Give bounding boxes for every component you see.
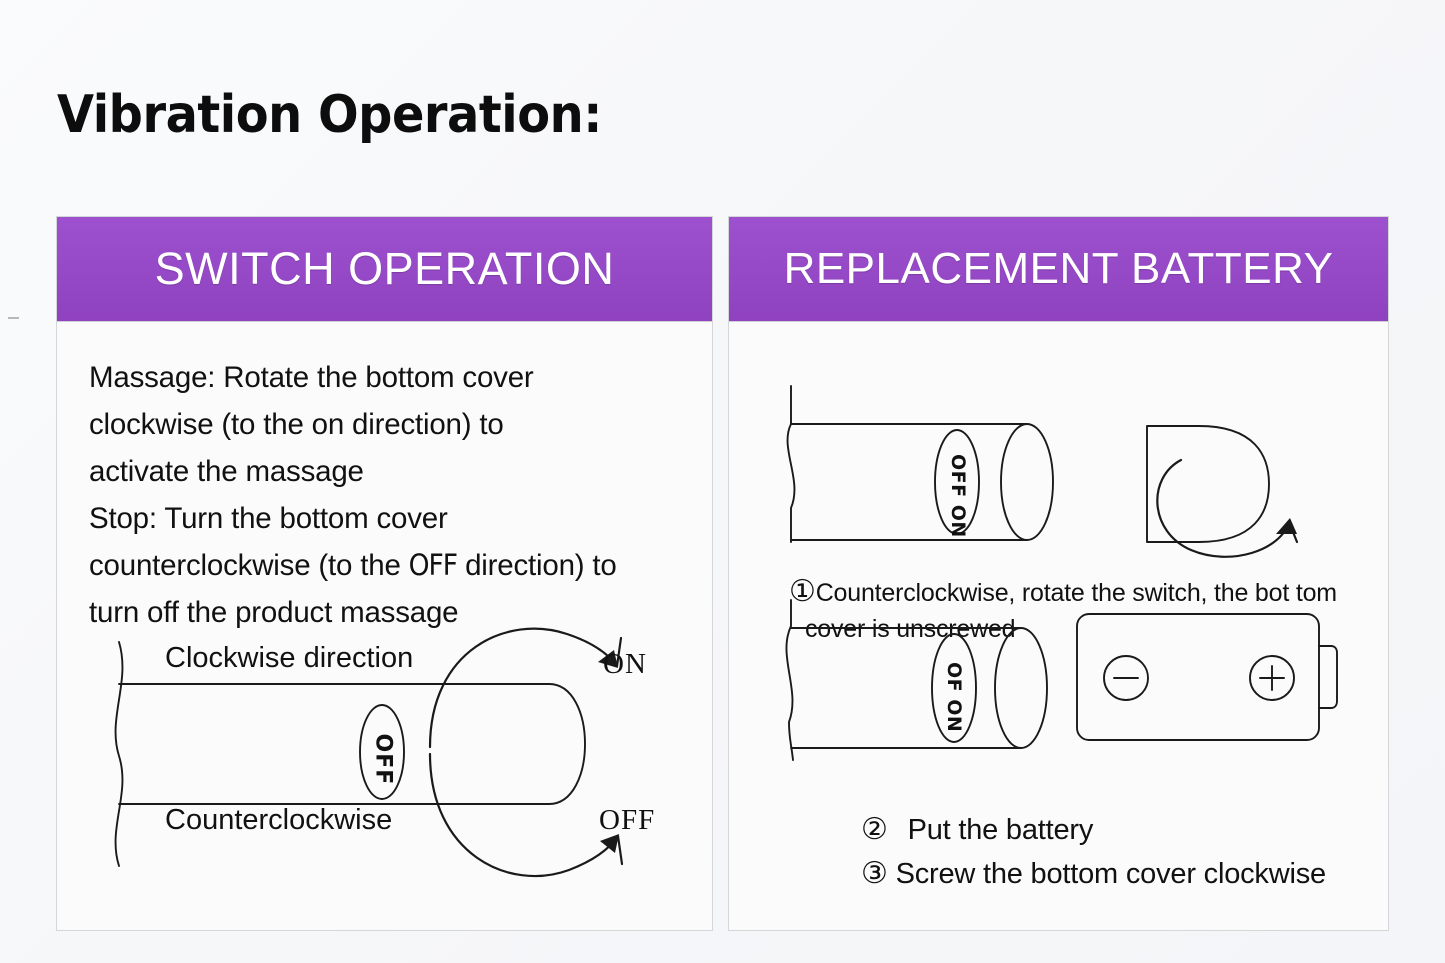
device1-break-edge — [788, 386, 795, 542]
battery-step1-svg — [769, 382, 1369, 567]
massage-line-3: activate the massage — [89, 448, 709, 495]
page-root: Vibration Operation: SWITCH OPERATION Ma… — [0, 0, 1445, 963]
stop-line-1: Stop: Turn the bottom cover — [89, 495, 709, 542]
panel-switch-operation: SWITCH OPERATION Massage: Rotate the bot… — [56, 216, 713, 931]
switch-knob-marking: OFF — [371, 734, 396, 776]
device-cap — [549, 684, 585, 804]
rotation-arrow-tail-off — [618, 836, 622, 864]
page-title: Vibration Operation: — [57, 85, 602, 145]
battery-step-2-text: ② Put the battery — [861, 812, 1093, 848]
label-clockwise-direction: Clockwise direction — [165, 642, 413, 675]
massage-line-1: Massage: Rotate the bottom cover — [89, 354, 709, 401]
rotation-arc-on — [430, 629, 617, 747]
device1-end-cap — [1001, 424, 1053, 540]
panel-battery-header: REPLACEMENT BATTERY — [729, 217, 1388, 322]
label-counterclockwise: Counterclockwise — [165, 804, 392, 837]
battery-step2-svg — [769, 600, 1369, 775]
bottom-cover-shape — [1147, 426, 1269, 542]
device2-end-cap — [995, 628, 1047, 748]
step-2-number: ② — [861, 813, 888, 846]
stop-line-2-post: direction) to — [457, 549, 617, 582]
stop-line-2-pre: counterclockwise (to the — [89, 549, 409, 582]
label-off: OFF — [599, 804, 655, 837]
panel-switch-body: Massage: Rotate the bottom cover clockwi… — [57, 322, 712, 930]
battery-step2-diagram: OF ON — [769, 600, 1369, 775]
massage-line-2: clockwise (to the on direction) to — [89, 401, 709, 448]
label-on: ON — [603, 648, 647, 681]
switch-rotation-diagram: Clockwise direction Counterclockwise ON … — [97, 622, 697, 912]
step-2-label: Put the battery — [896, 814, 1094, 846]
battery-terminal-nub — [1319, 646, 1337, 708]
switch-instructions: Massage: Rotate the bottom cover clockwi… — [89, 354, 709, 636]
battery-step-3-text: ③ Screw the bottom cover clockwise — [861, 856, 1326, 892]
battery-step1-diagram: OFF ON — [769, 382, 1369, 567]
step-3-label: Screw the bottom cover clockwise — [896, 858, 1326, 890]
device2-break-edge — [786, 600, 793, 760]
panel-battery-body: OFF ON ①Counterclockwise, rotate the swi… — [729, 322, 1388, 930]
device2-switch-marking: OF ON — [943, 662, 965, 720]
panel-switch-header: SWITCH OPERATION — [57, 217, 712, 322]
panel-replacement-battery: REPLACEMENT BATTERY — [728, 216, 1389, 931]
panel-switch-header-label: SWITCH OPERATION — [155, 243, 615, 295]
battery-body — [1077, 614, 1319, 740]
stop-line-2: counterclockwise (to the OFF direction) … — [89, 542, 709, 589]
stray-dash-mark — [8, 317, 19, 319]
stop-line-2-off: OFF — [409, 548, 457, 582]
device1-switch-marking: OFF ON — [947, 454, 969, 516]
device-break-edge — [116, 642, 123, 866]
rotation-arc-off — [430, 754, 618, 876]
panel-battery-header-label: REPLACEMENT BATTERY — [784, 244, 1334, 294]
step-3-number: ③ — [861, 857, 888, 890]
